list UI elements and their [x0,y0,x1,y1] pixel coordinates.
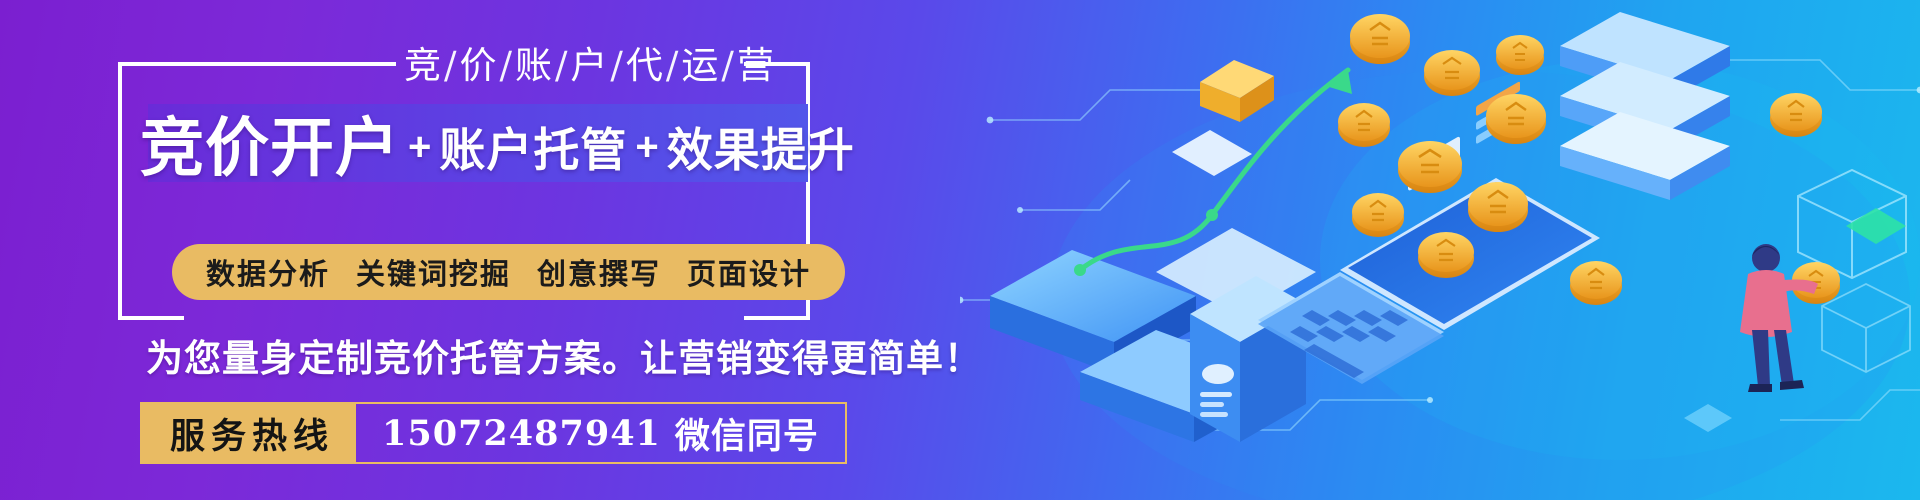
eyebrow-text: 竞/价/账/户/代/运/营 [404,40,775,92]
headline-plus-1: + [400,125,439,170]
headline-primary: 竞价开户 [140,97,400,189]
eyebrow-separator-2: / [497,44,514,87]
person-figure [1740,244,1840,392]
hotline-wechat-note: 微信同号 [675,408,819,459]
service-item-page-design: 页面设计 [687,251,811,293]
headline: 竞价开户 + 账户托管 + 效果提升 [140,100,840,186]
bracket-right-bottom-line [744,316,810,320]
podium-plates [990,250,1270,442]
eyebrow-word-1: 竞 [404,44,442,87]
hotline-label: 服务热线 [142,404,356,462]
floating-panel [1172,130,1252,176]
service-item-creative-writing: 创意撰写 [537,251,661,293]
hotline-bar: 服务热线 15072487941 微信同号 [140,402,847,464]
arrow-head [1326,70,1352,94]
bracket-top-line [118,62,396,66]
hotline-phone-number[interactable]: 15072487941 [382,413,661,454]
banner-content: 竞/价/账/户/代/运/营 竞价开户 + 账户托管 + 效果提升 数据分析 关键… [0,0,900,500]
services-pill: 数据分析 关键词挖掘 创意撰写 页面设计 [172,244,845,300]
server-stack [1560,12,1730,200]
eyebrow-word-5: 代 [626,44,664,87]
eyebrow-word-3: 账 [515,44,553,87]
wireframe-cube [1798,170,1906,278]
bracket-bottom-line [118,316,184,320]
eyebrow-separator-3: / [553,44,570,87]
eyebrow-separator-1: / [442,44,459,87]
eyebrow-separator-5: / [664,44,681,87]
gold-bar [1200,60,1274,122]
accent-squares [1684,208,1906,432]
eyebrow-word-7: 营 [737,44,775,87]
tablet-device [1156,228,1316,442]
headline-plus-2: + [627,125,666,170]
headline-secondary: 账户托管 [439,114,627,180]
eyebrow-word-6: 运 [681,44,719,87]
service-item-keyword-research: 关键词挖掘 [356,251,511,293]
promo-banner: 竞/价/账/户/代/运/营 竞价开户 + 账户托管 + 效果提升 数据分析 关键… [0,0,1920,500]
growth-arrow [1080,70,1348,270]
eyebrow-separator-4: / [608,44,625,87]
eyebrow-word-2: 价 [459,44,497,87]
hotline-value: 15072487941 微信同号 [356,404,845,462]
service-item-data-analysis: 数据分析 [206,251,330,293]
eyebrow-separator-6: / [719,44,736,87]
laptop-device [1258,81,1600,384]
tagline: 为您量身定制竞价托管方案。让营销变得更简单！ [146,328,982,382]
gold-coins [1338,14,1822,305]
isometric-device-illustration [960,0,1920,500]
eyebrow-word-4: 户 [570,44,608,87]
headline-tertiary: 效果提升 [667,114,855,180]
